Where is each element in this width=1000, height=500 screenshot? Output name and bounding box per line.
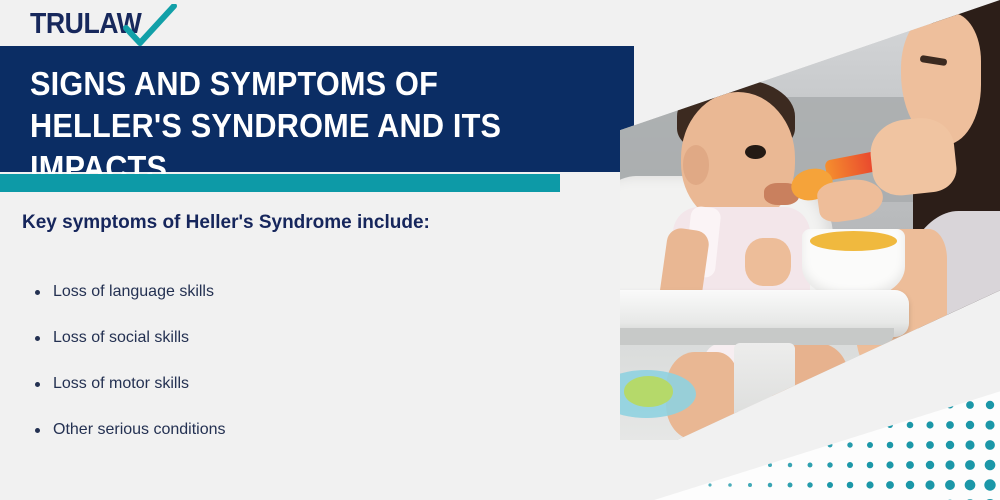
photo-baby-hand <box>745 238 791 286</box>
trulaw-logo[interactable]: TRULAW <box>30 6 230 46</box>
subheading: Key symptoms of Heller's Syndrome includ… <box>22 208 462 237</box>
list-item: Loss of social skills <box>30 328 550 348</box>
feeding-baby-photo <box>620 0 1000 440</box>
list-item: Loss of motor skills <box>30 374 550 394</box>
symptoms-list: Loss of language skills Loss of social s… <box>30 282 550 466</box>
photo-plate-inner <box>624 376 673 407</box>
page-title: SIGNS AND SYMPTOMS OF HELLER'S SYNDROME … <box>30 63 569 189</box>
list-item: Loss of language skills <box>30 282 550 302</box>
infographic-canvas: TRULAW SIGNS AND SYMPTOMS OF HELLER'S SY… <box>0 0 1000 500</box>
photo-highchair-leg <box>734 343 795 440</box>
photo-scene <box>620 0 1000 440</box>
photo-food <box>810 231 897 251</box>
accent-bar <box>0 174 560 192</box>
title-band: SIGNS AND SYMPTOMS OF HELLER'S SYNDROME … <box>0 46 634 172</box>
checkmark-icon <box>122 4 178 48</box>
list-item: Other serious conditions <box>30 420 550 440</box>
photo-baby-ear <box>683 145 710 185</box>
